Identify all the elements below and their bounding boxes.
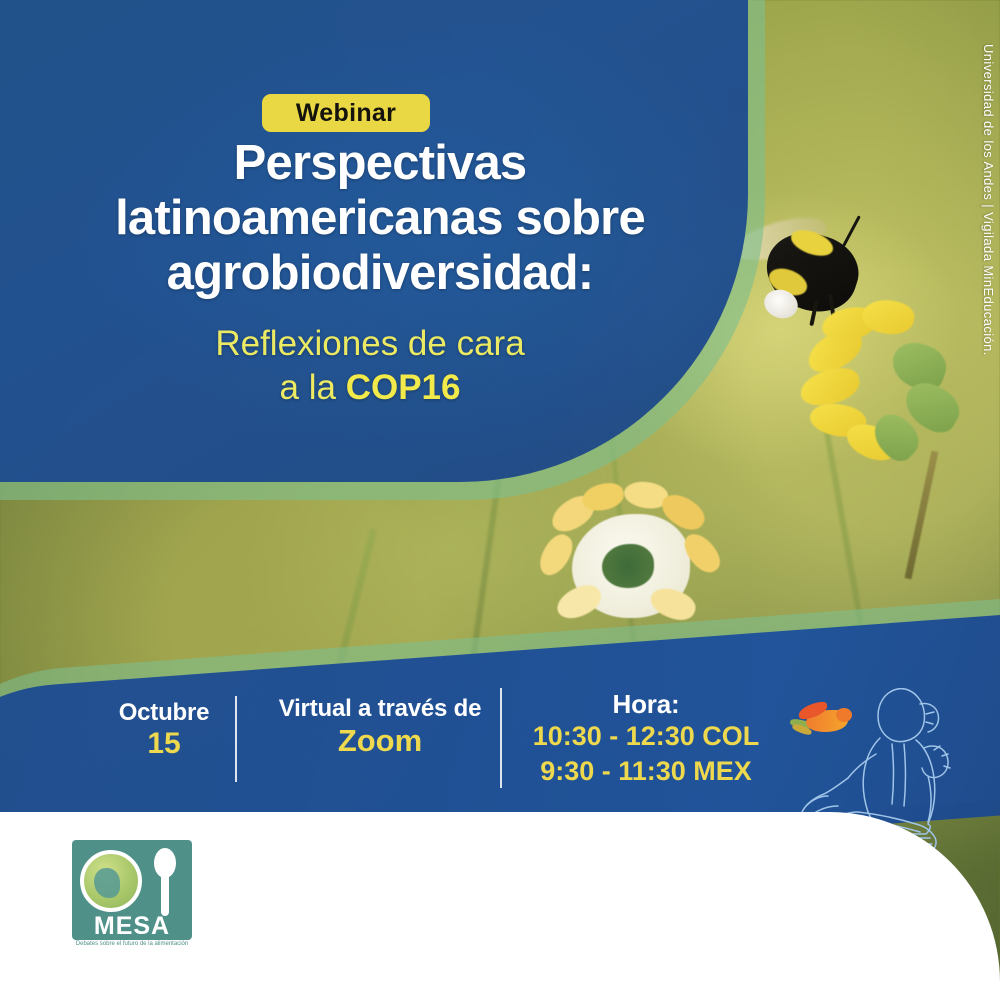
platform-label: Virtual a través de <box>250 696 510 723</box>
event-month: Octubre <box>96 700 232 727</box>
event-date: Octubre 15 <box>96 700 232 761</box>
hero-content: Webinar Perspectivas latinoamericanas so… <box>0 0 748 482</box>
bee-antenna <box>842 215 861 246</box>
webinar-badge: Webinar <box>262 94 430 132</box>
title-line-1: Perspectivas <box>40 136 720 191</box>
mesa-subtitle: Debates sobre el futuro de la alimentaci… <box>72 940 192 948</box>
time-slot-col: 10:30 - 12:30 COL <box>500 719 792 754</box>
globe-icon <box>80 850 142 912</box>
spoon-icon <box>154 848 176 914</box>
time-slot-mex: 9:30 - 11:30 MEX <box>500 754 792 789</box>
logo-mesa: MESA Debates sobre el futuro de la alime… <box>72 840 192 940</box>
page-subtitle: Reflexiones de cara a la COP16 <box>40 322 700 410</box>
sponsor-footer: MESA Debates sobre el futuro de la alime… <box>0 812 1000 1000</box>
time-label: Hora: <box>500 690 792 719</box>
event-platform: Virtual a través de Zoom <box>250 696 510 759</box>
subtitle-prefix: a la <box>280 368 346 407</box>
yellow-flower <box>800 300 990 500</box>
page-title: Perspectivas latinoamericanas sobre agro… <box>40 136 720 301</box>
webinar-poster: Webinar Perspectivas latinoamericanas so… <box>0 0 1000 1000</box>
event-day: 15 <box>96 727 232 762</box>
subtitle-cop16: COP16 <box>346 368 461 407</box>
mesa-title: MESA <box>72 912 192 941</box>
title-line-2: latinoamericanas sobre <box>40 191 720 246</box>
platform-name: Zoom <box>250 723 510 759</box>
event-time: Hora: 10:30 - 12:30 COL 9:30 - 11:30 MEX <box>500 690 792 788</box>
bird-icon <box>792 704 854 740</box>
info-divider <box>235 696 237 782</box>
webinar-badge-label: Webinar <box>296 99 396 128</box>
subtitle-line-1: Reflexiones de cara <box>40 322 700 366</box>
subtitle-line-2: a la COP16 <box>40 366 700 410</box>
title-line-3: agrobiodiversidad: <box>40 246 720 301</box>
vigilada-mineducacion-text: Universidad de los Andes | Vigilada MinE… <box>981 44 996 356</box>
